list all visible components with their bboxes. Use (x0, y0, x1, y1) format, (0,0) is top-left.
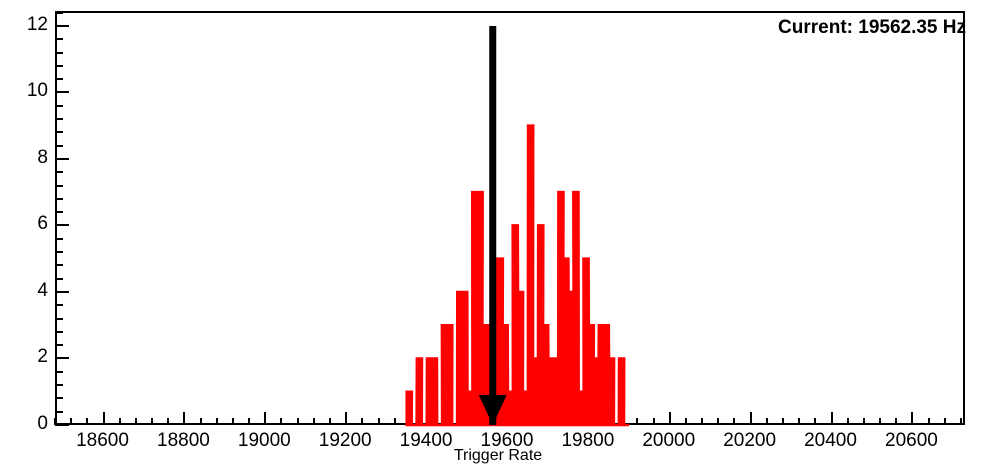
y-tick-label: 4 (37, 280, 48, 302)
y-tick-label: 12 (27, 14, 48, 36)
histogram-canvas: Current: 19562.35 Hz 024681012 186001880… (0, 0, 996, 472)
y-tick-label: 2 (37, 346, 48, 368)
plot-frame: 024681012 186001880019000192001940019600… (55, 11, 965, 425)
y-tick-label: 10 (27, 80, 48, 102)
y-tick-label: 0 (37, 413, 48, 435)
marker-arrow-head (479, 395, 507, 425)
y-tick-label: 8 (37, 147, 48, 169)
y-tick-label: 6 (37, 213, 48, 235)
current-rate-marker (55, 11, 965, 425)
x-axis-title: Trigger Rate (0, 447, 996, 465)
